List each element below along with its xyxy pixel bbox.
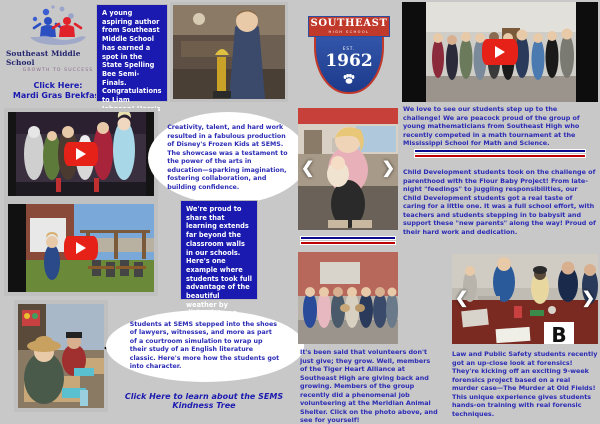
crest-school-name: SOUTHEAST bbox=[311, 19, 388, 29]
divider-red-bar bbox=[300, 241, 396, 245]
divider-red-bar bbox=[414, 154, 586, 158]
outdoor-classroom-video-thumbnail[interactable] bbox=[8, 204, 154, 292]
sems-logo-mark bbox=[22, 4, 94, 48]
kindness-tree-link[interactable]: Click Here to learn about the SEMS Kindn… bbox=[104, 392, 304, 410]
chevron-right-icon[interactable]: ❯ bbox=[382, 161, 395, 177]
flour-baby-photo[interactable]: ❮ ❯ bbox=[298, 108, 398, 230]
svg-text:B: B bbox=[551, 323, 566, 344]
chevron-right-icon[interactable]: ❯ bbox=[582, 291, 595, 307]
divider-blue-bar bbox=[414, 149, 586, 153]
sems-school-name: Southeast Middle School bbox=[6, 49, 110, 67]
newsletter-page: Southeast Middle School GROWTH TO SUCCES… bbox=[0, 0, 600, 424]
callout-frozen-text: Creativity, talent, and hard work result… bbox=[148, 124, 308, 192]
callout-spelling-bee[interactable]: A young aspiring author from Southeast M… bbox=[96, 4, 168, 102]
divider-blue-bar bbox=[300, 236, 396, 240]
crest-banner: SOUTHEAST HIGH SCHOOL bbox=[308, 16, 390, 37]
chevron-left-icon[interactable]: ❮ bbox=[301, 161, 314, 177]
article-tiger-heart: It's been said that volunteers don't jus… bbox=[300, 348, 438, 424]
youtube-play-icon[interactable] bbox=[482, 39, 518, 65]
math-team-video-thumbnail[interactable] bbox=[402, 2, 598, 102]
chevron-left-icon[interactable]: ❮ bbox=[455, 291, 468, 307]
callout-frozen-kids[interactable]: Creativity, talent, and hard work result… bbox=[148, 112, 308, 204]
cta-line-1: Click Here: bbox=[34, 81, 83, 90]
article-forensics: Law and Public Safety students recently … bbox=[452, 350, 598, 418]
youtube-play-icon[interactable] bbox=[64, 236, 98, 260]
mardi-gras-link[interactable]: Click Here: Mardi Gras Brekfast bbox=[13, 81, 103, 102]
article-flour-baby: Child Development students took on the c… bbox=[403, 168, 597, 236]
forensics-lab-photo[interactable]: B ❮ ❯ bbox=[452, 254, 598, 344]
sems-logo-card[interactable]: Southeast Middle School GROWTH TO SUCCES… bbox=[6, 4, 110, 98]
southeast-high-school-crest[interactable]: SOUTHEAST HIGH SCHOOL EST. 1962 bbox=[306, 2, 392, 98]
spelling-bee-photo[interactable] bbox=[173, 5, 285, 99]
courtroom-simulation-photo[interactable] bbox=[18, 304, 104, 408]
callout-outdoor-classroom[interactable]: We're proud to share that learning exten… bbox=[180, 200, 258, 300]
cta-line-2: Mardi Gras Brekfast bbox=[13, 91, 103, 100]
paw-print-icon bbox=[343, 74, 355, 86]
callout-courtroom-sim[interactable]: Students at SEMS stepped into the shoes … bbox=[106, 310, 304, 382]
divider-bars bbox=[414, 149, 586, 158]
sems-tagline: GROWTH TO SUCCESS bbox=[23, 68, 94, 73]
callout-courtroom-text: Students at SEMS stepped into the shoes … bbox=[106, 321, 304, 372]
crest-school-subtitle: HIGH SCHOOL bbox=[329, 30, 370, 34]
divider-bars-middle bbox=[300, 236, 396, 245]
article-math-tournament: We love to see our students step up to t… bbox=[403, 105, 597, 148]
frozen-kids-video-thumbnail[interactable] bbox=[8, 112, 154, 196]
tiger-heart-volunteers-photo[interactable] bbox=[298, 252, 398, 344]
crest-year: 1962 bbox=[306, 51, 392, 71]
youtube-play-icon[interactable] bbox=[64, 142, 98, 166]
